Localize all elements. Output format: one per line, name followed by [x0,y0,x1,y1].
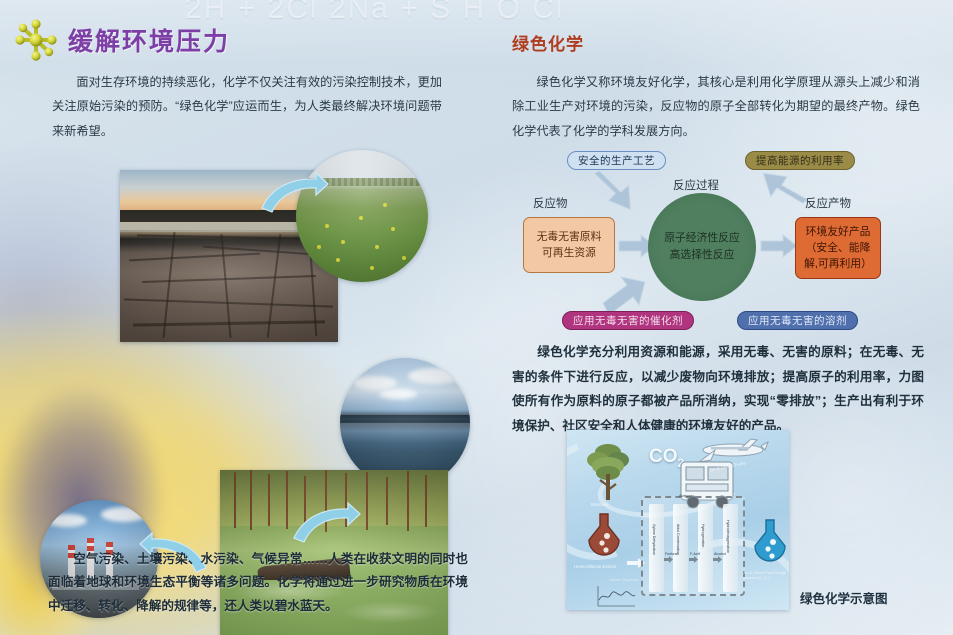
jet-diesel-fuel-range-alkanes-label: Jet & Diesel Fuel Range alkanes (C -C ) [743,570,787,580]
spectrum-graph-icon [597,582,637,608]
raw-material-line-1: 无毒无害原料 [537,229,602,245]
reactor-process-dashed-box: Xylose Dehydration Aldol Condensation Hy… [641,496,745,596]
hydrodeoxygenation-label: Hydrodeoxygenation [726,520,730,553]
poster-page: 2H + 2Cl 2Na + S H O Cl [0,0,953,635]
xylose-dehydration-label: Xylose Dehydration [652,524,656,555]
process-arrow-3-icon [689,556,698,563]
green-chemistry-diagram: 安全的生产工艺 提高能源的利用率 应用无毒无害的催化剂 应用无毒无害的溶剂 反应… [505,145,953,340]
co2-text: CO [649,446,678,467]
green-chemistry-intro-paragraph: 绿色化学又称环境友好化学，其核心是利用化学原理从源头上减少和消除工业生产对环境的… [512,70,920,143]
biomass-label: Biomass [591,502,608,507]
improve-energy-efficiency-pill[interactable]: 提高能源的利用率 [745,151,855,170]
poster-header: 缓解环境压力 [14,18,230,62]
green-chemistry-heading: 绿色化学 [512,30,584,55]
green-chemistry-detail-paragraph: 绿色化学充分利用资源和能源，采用无毒、无害的原料；在无毒、无害的条件下进行反应，… [512,340,924,438]
green-chemistry-process-illustration: CO2 Biomass [567,430,789,610]
reaction-product-label: 反应产物 [805,195,851,211]
reactant-label: 反应物 [533,195,568,211]
nontoxic-catalyst-pill[interactable]: 应用无毒无害的催化剂 [562,311,694,330]
reaction-process-label: 反应过程 [673,177,719,193]
acetone-label: Acetone [679,494,692,498]
atom-economy-core-circle[interactable]: 原子经济性反应 高选择性反应 [648,193,756,301]
core-line-2: 高选择性反应 [670,247,735,264]
environment-photo-collage [0,130,500,550]
tree-icon [585,442,631,502]
page-title: 缓解环境压力 [68,22,230,58]
hydrogenation-label: Hydrogenation [701,524,705,547]
process-arrow-2-icon [664,556,673,563]
product-line-3: 解,可再利用） [804,256,872,272]
molecule-icon [14,18,58,62]
raw-material-box[interactable]: 无毒无害原料 可再生资源 [523,217,615,273]
core-line-1: 原子经济性反应 [664,230,740,247]
aldol-condensation-label: Aldol Condensation [676,524,680,555]
eco-friendly-product-box[interactable]: 环境友好产品 （安全、能降 解,可再利用） [795,217,881,279]
illustration-caption: 绿色化学示意图 [800,588,888,607]
hemicellulose-flask-icon [581,512,627,564]
process-arrow-4-icon [713,556,722,563]
background-chemical-equation-watermark: 2H + 2Cl 2Na + S H O Cl [185,0,564,26]
jet-diesel-fuel-flask-icon [747,518,789,570]
left-closing-paragraph: 空气污染、土壤污染、水污染、气候异常……人类在收获文明的同时也面临着地球和环境生… [48,548,468,618]
hemicellulose-extract-label: Hemicellulose Extract [574,564,616,570]
green-rapeseed-field-photo [296,150,428,282]
reactor-column-3 [698,504,713,592]
safe-production-process-pill[interactable]: 安全的生产工艺 [567,151,666,170]
product-line-2: （安全、能降 [806,240,871,256]
clean-water-lake-photo [340,358,470,488]
raw-material-line-2: 可再生资源 [542,245,596,261]
nontoxic-solvent-pill[interactable]: 应用无毒无害的溶剂 [737,311,858,330]
product-line-1: 环境友好产品 [806,224,871,240]
